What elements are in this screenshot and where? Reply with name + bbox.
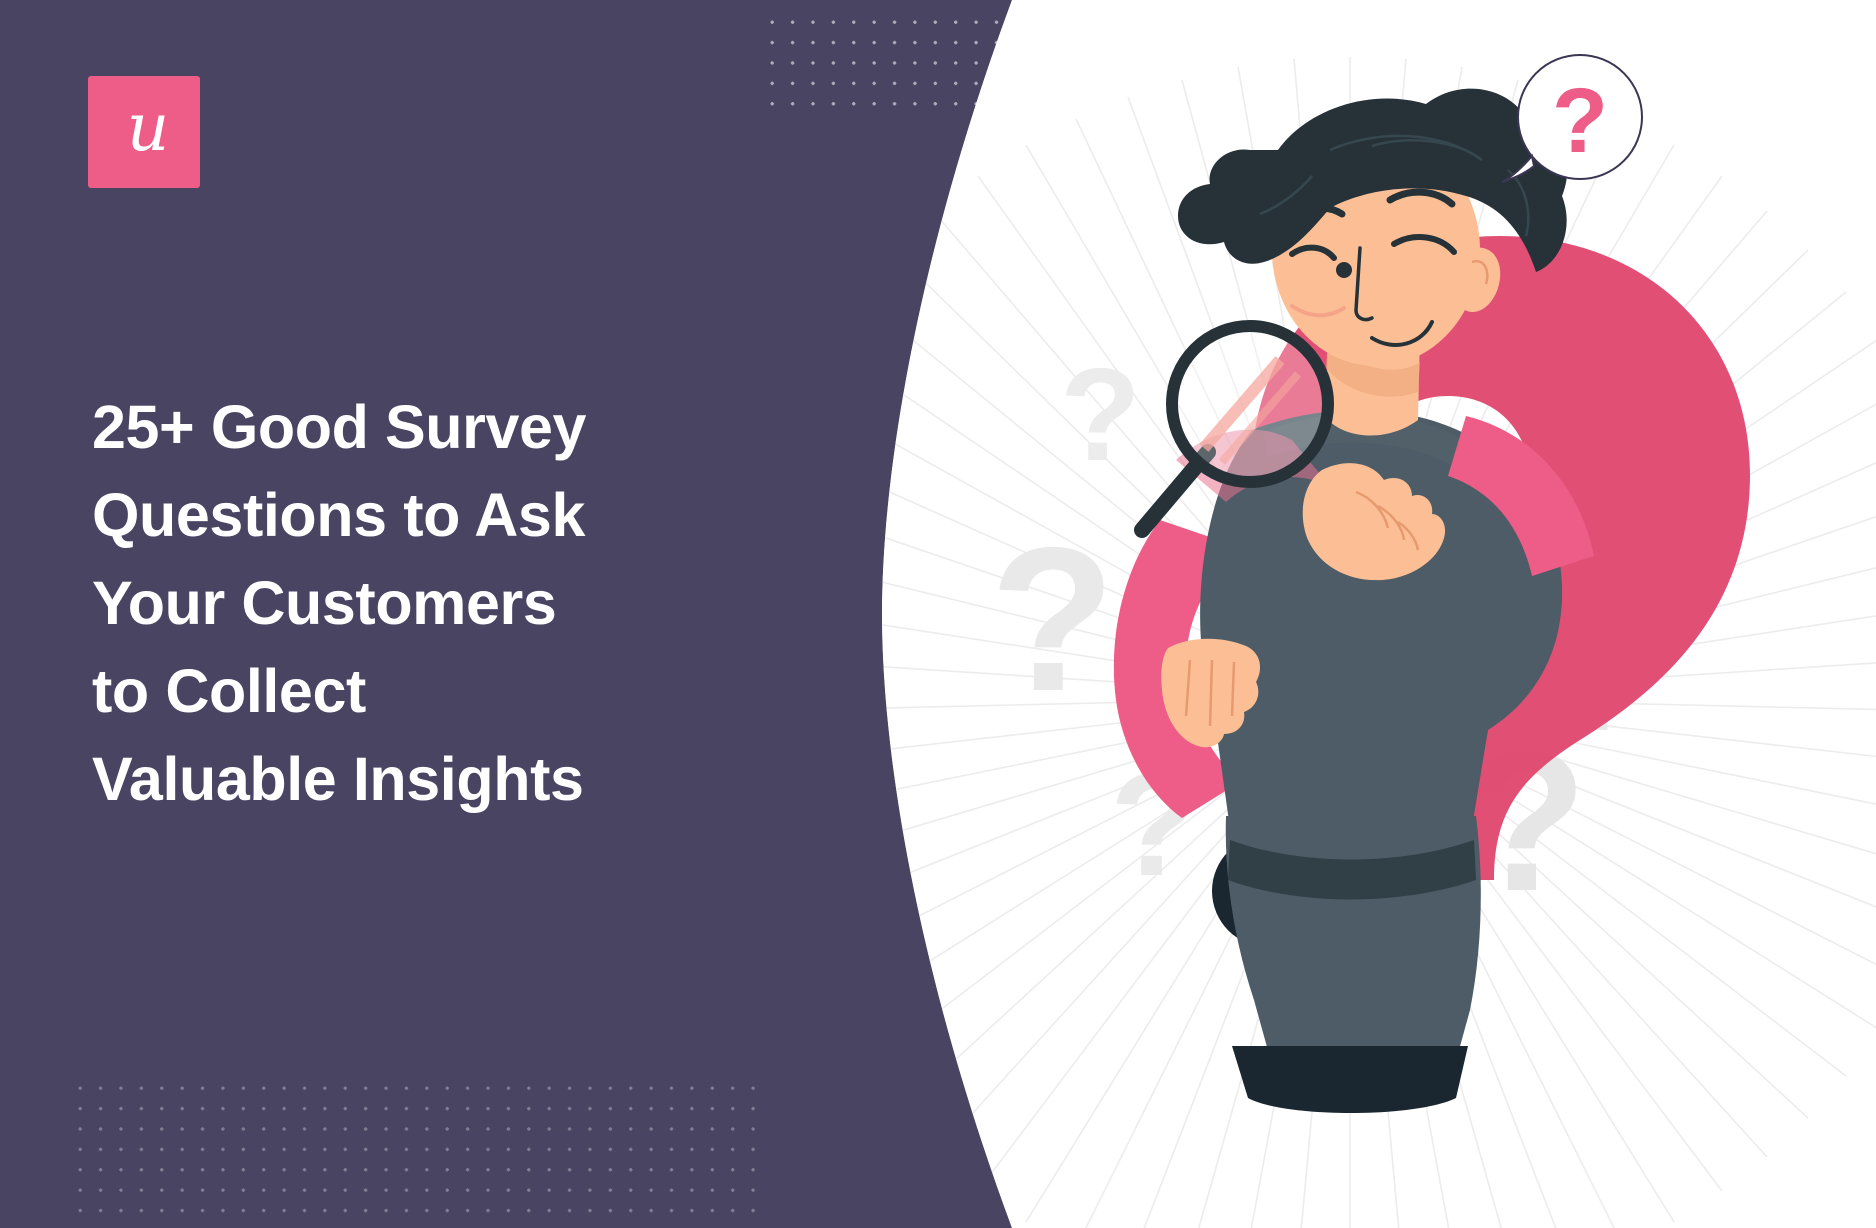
- question-mark-icon-2: ?: [990, 505, 1115, 734]
- title-line-1: 25+ Good Survey: [92, 383, 772, 471]
- banner-canvas: u 25+ Good Survey Questions to Ask Your …: [0, 0, 1876, 1228]
- speech-bubble-question-symbol: ?: [1552, 70, 1608, 172]
- title-line-2: Questions to Ask: [92, 471, 772, 559]
- userpilot-u-logo-icon: u: [127, 95, 170, 161]
- illustration-panel: ? ? ? ? ? ?: [860, 0, 1876, 1228]
- page-title: 25+ Good Survey Questions to Ask Your Cu…: [92, 383, 772, 823]
- title-line-4: to Collect: [92, 647, 772, 735]
- question-mark-icon-1: ?: [1060, 341, 1141, 488]
- logo-mark-tile[interactable]: u: [88, 76, 200, 188]
- title-line-5: Valuable Insights: [92, 735, 772, 823]
- title-line-3: Your Customers: [92, 559, 772, 647]
